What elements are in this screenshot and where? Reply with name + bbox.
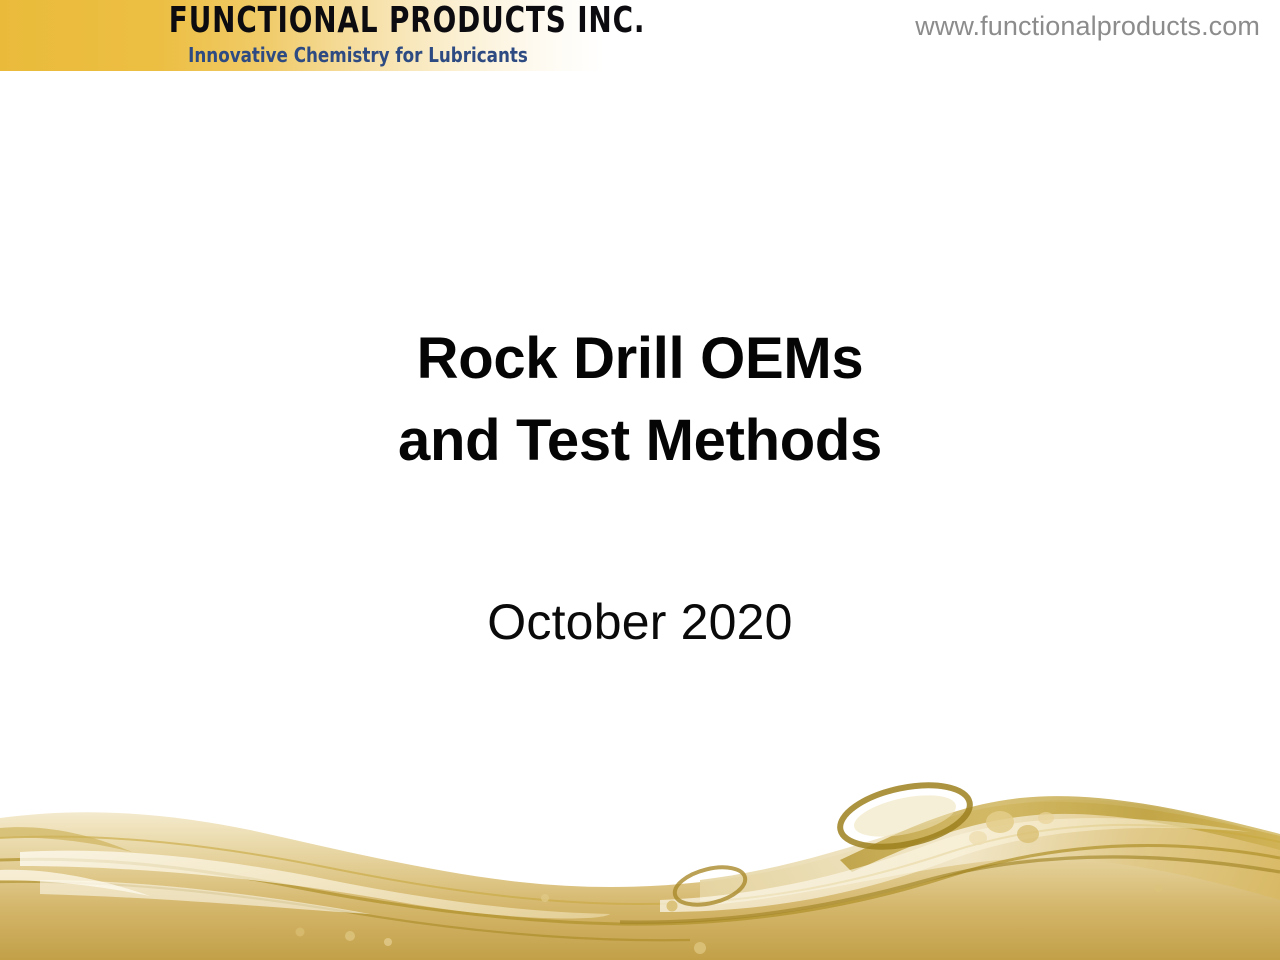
slide-title-line-1: Rock Drill OEMs bbox=[0, 318, 1280, 400]
slide-title-line-2: and Test Methods bbox=[0, 400, 1280, 482]
presentation-slide: FUNCTIONAL PRODUCTS INC. Innovative Chem… bbox=[0, 0, 1280, 960]
oil-foam-3 bbox=[969, 831, 987, 845]
oil-foam-4 bbox=[1038, 812, 1054, 824]
company-logo-banner: FUNCTIONAL PRODUCTS INC. Innovative Chem… bbox=[0, 0, 604, 71]
website-url: www.functionalproducts.com bbox=[915, 9, 1260, 43]
slide-title: Rock Drill OEMs and Test Methods bbox=[0, 318, 1280, 482]
oil-droplet-4 bbox=[345, 931, 355, 941]
oil-droplet-6 bbox=[296, 928, 305, 937]
company-tagline-text: Innovative Chemistry for Lubricants bbox=[153, 43, 562, 67]
oil-droplet-5 bbox=[384, 938, 392, 946]
oil-foam-1 bbox=[986, 811, 1014, 833]
oil-foam-2 bbox=[1017, 825, 1039, 843]
oil-droplet-2 bbox=[694, 942, 706, 954]
slide-subtitle-date: October 2020 bbox=[0, 590, 1280, 654]
oil-wave-svg bbox=[0, 710, 1280, 960]
company-name-text: FUNCTIONAL PRODUCTS INC. bbox=[169, 1, 547, 41]
oil-droplet-3 bbox=[541, 894, 549, 902]
oil-wave-graphic bbox=[0, 710, 1280, 960]
oil-droplet-7 bbox=[1154, 884, 1162, 892]
oil-droplet-1 bbox=[667, 901, 678, 912]
